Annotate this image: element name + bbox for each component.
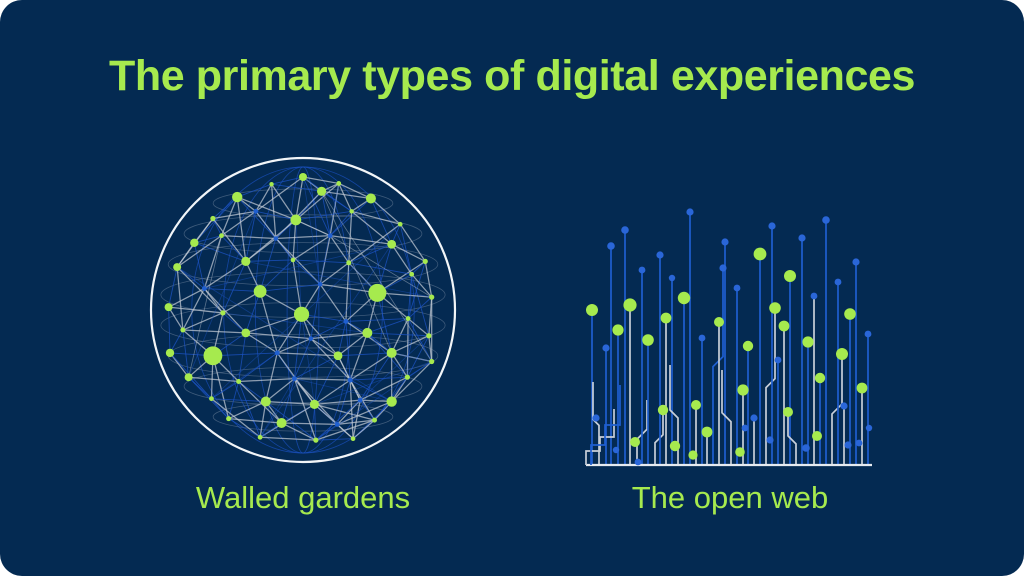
sphere-node-green — [166, 349, 174, 357]
sphere-node-green — [190, 239, 198, 247]
sphere-node-green — [310, 400, 319, 409]
sphere-chord — [296, 220, 330, 236]
sphere-node-green — [291, 258, 296, 263]
sphere-edge — [239, 333, 246, 382]
sphere-node-green — [290, 215, 301, 226]
circuit-dot-blue — [835, 279, 842, 286]
sphere-node-green — [299, 173, 307, 181]
sphere-edge — [169, 267, 178, 307]
circuit-dots-group — [586, 208, 872, 465]
circuit-dot-blue — [669, 275, 675, 281]
circuit-trace — [713, 268, 723, 465]
sphere-edge — [183, 330, 246, 333]
sphere-edge — [367, 333, 428, 336]
circuit-dot-blue — [592, 414, 599, 421]
circuit-dot-blue — [613, 447, 619, 453]
circuit-dot-blue — [721, 238, 728, 245]
sphere-edge — [246, 291, 260, 332]
sphere-node-green — [254, 285, 267, 298]
circuit-dot-blue — [621, 226, 629, 234]
sphere-node-blue — [358, 398, 363, 403]
circuit-dot-green — [691, 400, 701, 410]
circuit-dot-green — [678, 292, 690, 304]
sphere-edge — [350, 377, 407, 380]
sphere-node-green — [366, 193, 376, 203]
sphere-node-blue — [274, 236, 279, 241]
sphere-node-blue — [348, 378, 353, 383]
sphere-node-green — [317, 187, 326, 196]
sphere-latitude-arc — [184, 367, 422, 405]
sphere-edge — [314, 380, 350, 404]
sphere-node-green — [372, 418, 377, 423]
circuit-dot-green — [688, 450, 697, 459]
sphere-node-green — [334, 351, 343, 360]
circuit-trace — [655, 410, 663, 465]
circuit-dot-blue — [719, 264, 726, 271]
circuit-dot-blue — [865, 331, 872, 338]
sphere-node-blue — [292, 376, 297, 381]
sphere-node-green — [209, 396, 214, 401]
sphere-edge — [346, 263, 349, 322]
circuit-dot-green — [802, 336, 813, 347]
circuit-dot-blue — [635, 459, 642, 466]
circuit-dot-green — [623, 298, 636, 311]
sphere-edge — [293, 236, 330, 260]
sphere-edge — [223, 291, 260, 312]
sphere-edge — [229, 419, 282, 423]
circuit-traces-illustration — [565, 150, 895, 470]
sphere-node-green — [236, 379, 241, 384]
sphere-node-green — [368, 284, 386, 302]
sphere-edge — [392, 336, 429, 353]
circuit-traces-group — [592, 212, 868, 465]
circuit-dot-blue — [840, 402, 847, 409]
circuit-dot-green — [702, 427, 713, 438]
circuit-trace — [832, 354, 842, 465]
sphere-node-green — [277, 418, 287, 428]
circuit-dot-blue — [639, 267, 646, 274]
sphere-node-green — [226, 416, 231, 421]
sphere-node-green — [219, 233, 224, 238]
circuit-dot-blue — [734, 285, 741, 292]
circuit-dot-green — [836, 348, 848, 360]
sphere-edge — [400, 224, 425, 261]
network-sphere-illustration — [138, 150, 468, 470]
sphere-node-green — [180, 328, 185, 333]
circuit-dot-green — [754, 248, 767, 261]
sphere-node-green — [269, 182, 273, 186]
circuit-dot-blue — [742, 425, 749, 432]
sphere-node-green — [429, 295, 434, 300]
sphere-edge — [177, 243, 194, 267]
sphere-chord — [316, 361, 432, 440]
sphere-node-green — [294, 307, 309, 322]
circuit-dot-blue — [775, 357, 782, 364]
circuit-dot-blue — [802, 444, 810, 452]
sphere-node-green — [241, 328, 250, 337]
circuit-dot-blue — [699, 335, 706, 342]
circuit-dot-blue — [852, 258, 859, 265]
sphere-node-green — [386, 396, 396, 406]
sphere-edge — [294, 379, 350, 380]
sphere-edge — [338, 353, 392, 356]
slide-canvas: The primary types of digital experiences… — [0, 0, 1024, 576]
sphere-node-green — [349, 209, 353, 213]
circuit-dot-green — [658, 405, 668, 415]
circuit-dot-blue — [844, 441, 851, 448]
sphere-node-green — [210, 216, 215, 221]
sphere-node-green — [165, 303, 173, 311]
circuit-dot-green — [779, 321, 790, 332]
sphere-node-blue — [275, 350, 280, 355]
circuit-dot-blue — [656, 251, 663, 258]
circuit-dot-blue — [607, 242, 615, 250]
sphere-node-green — [173, 263, 181, 271]
circuit-dot-blue — [822, 216, 830, 224]
circuit-dot-green — [743, 341, 753, 351]
sphere-node-blue — [344, 319, 349, 324]
circuit-dot-green — [586, 304, 598, 316]
sphere-edge — [169, 307, 170, 353]
sphere-edge — [282, 423, 338, 424]
sphere-node-green — [220, 310, 225, 315]
sphere-edge — [177, 236, 221, 267]
sphere-node-blue — [309, 336, 314, 341]
circuit-dot-green — [670, 441, 680, 451]
sphere-node-green — [351, 436, 356, 441]
sphere-node-green — [426, 333, 431, 338]
sphere-edge — [408, 319, 429, 336]
sphere-edge — [189, 377, 229, 418]
sphere-node-green — [336, 181, 341, 186]
sphere-node-green — [185, 373, 193, 381]
circuit-dot-green — [784, 270, 796, 282]
circuit-dot-blue — [602, 344, 609, 351]
sphere-edge — [316, 439, 353, 440]
circuit-dot-green — [714, 317, 724, 327]
sphere-node-green — [387, 348, 397, 358]
circuit-dot-green — [737, 384, 748, 395]
circuit-dot-blue — [686, 208, 693, 215]
sphere-edge — [239, 379, 295, 382]
circuit-traces-svg — [565, 150, 895, 470]
circuit-dot-blue — [856, 440, 863, 447]
sphere-edge — [177, 267, 223, 313]
circuit-dot-green — [844, 308, 856, 320]
page-title: The primary types of digital experiences — [0, 52, 1024, 101]
sphere-edge — [221, 236, 275, 239]
sphere-edge — [237, 197, 276, 238]
sphere-node-green — [204, 346, 223, 365]
circuit-trace — [722, 370, 731, 465]
sphere-chord — [392, 353, 432, 362]
circuit-dot-green — [612, 324, 623, 335]
circuit-dot-blue — [768, 222, 775, 229]
sphere-node-green — [261, 397, 271, 407]
sphere-node-green — [232, 192, 242, 202]
sphere-node-green — [313, 438, 318, 443]
circuit-dot-green — [630, 437, 640, 447]
sphere-node-green — [409, 272, 414, 277]
sphere-edge — [276, 236, 330, 239]
circuit-dot-green — [735, 447, 745, 457]
circuit-trace — [593, 382, 599, 465]
circuit-dot-blue — [811, 293, 818, 300]
sphere-node-green — [423, 259, 428, 264]
sphere-node-green — [387, 240, 396, 249]
sphere-node-green — [406, 316, 411, 321]
circuit-dot-green — [812, 431, 822, 441]
sphere-chord — [260, 244, 392, 437]
sphere-edge — [293, 220, 296, 260]
caption-walled-gardens: Walled gardens — [138, 480, 468, 516]
circuit-dot-green — [642, 334, 654, 346]
sphere-chord — [246, 261, 432, 297]
sphere-node-green — [429, 359, 434, 364]
sphere-node-green — [398, 222, 403, 227]
circuit-dot-blue — [798, 234, 805, 241]
network-sphere-svg — [138, 150, 468, 470]
sphere-node-green — [241, 257, 250, 266]
circuit-dot-green — [857, 383, 868, 394]
sphere-node-blue — [202, 286, 207, 291]
caption-open-web: The open web — [565, 480, 895, 516]
sphere-node-blue — [253, 209, 258, 214]
circuit-dot-green — [815, 373, 825, 383]
circuit-dot-green — [783, 407, 793, 417]
circuit-dot-green — [769, 302, 781, 314]
sphere-edge — [177, 267, 183, 330]
sphere-edge — [213, 353, 277, 356]
sphere-node-blue — [328, 233, 333, 238]
sphere-node-blue — [318, 282, 323, 287]
sphere-node-green — [258, 435, 263, 440]
circuit-dot-blue — [750, 414, 757, 421]
sphere-node-blue — [335, 422, 340, 427]
sphere-node-green — [346, 260, 351, 265]
circuit-dot-blue — [766, 436, 773, 443]
sphere-edge — [204, 289, 245, 333]
sphere-node-green — [405, 375, 410, 380]
circuit-dot-blue — [866, 425, 872, 431]
panel-walled-gardens: Walled gardens — [138, 150, 468, 540]
panel-open-web: The open web — [565, 150, 895, 540]
circuit-dot-green — [661, 313, 672, 324]
sphere-node-green — [362, 328, 372, 338]
